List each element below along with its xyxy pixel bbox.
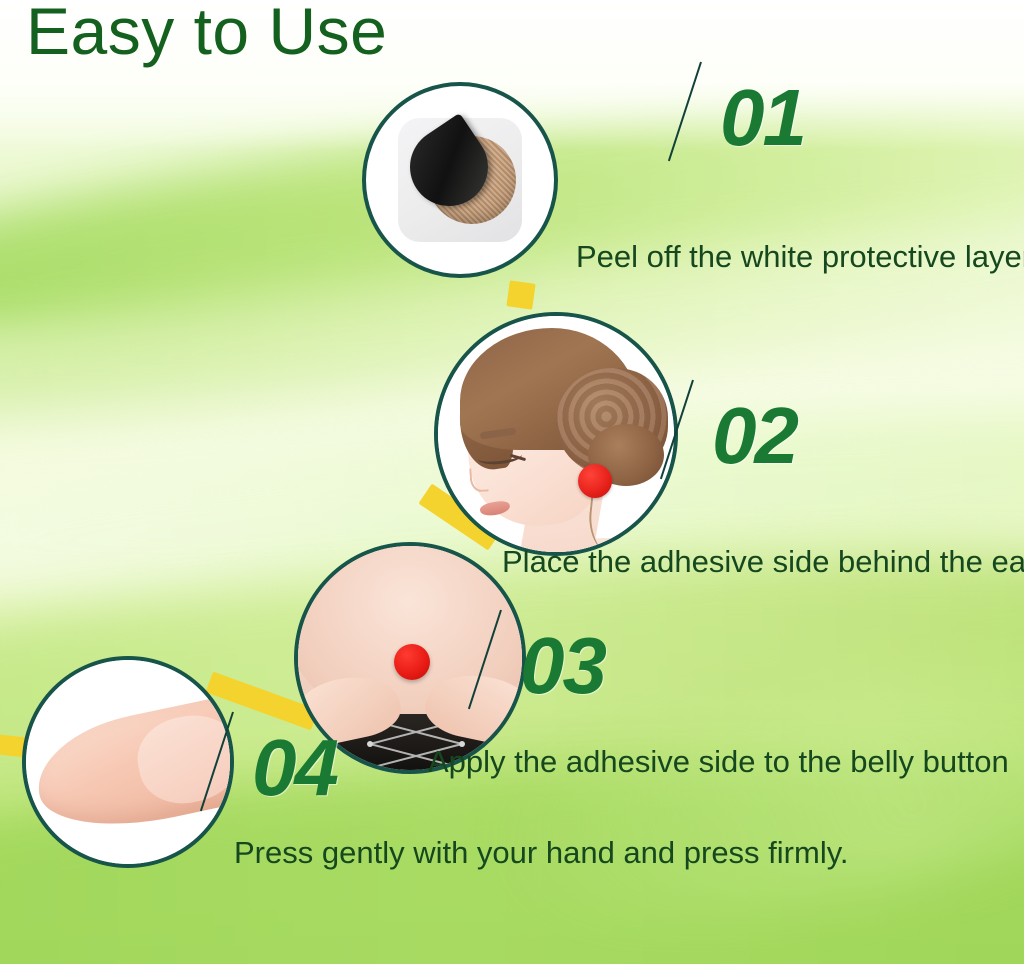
fingertip-illustration xyxy=(26,660,230,864)
step-4-caption: Press gently with your hand and press fi… xyxy=(234,836,849,870)
connector-step1-step2 xyxy=(506,280,535,309)
red-marker-at-navel xyxy=(394,644,430,680)
nose-shape xyxy=(469,467,489,492)
step-2-number: 02 xyxy=(712,396,797,476)
infographic-poster: Easy to Use xyxy=(0,0,1024,964)
woman-illustration xyxy=(438,316,674,552)
step-2-illustration-circle xyxy=(434,312,678,556)
step-3-number: 03 xyxy=(520,626,605,706)
step-1-number: 01 xyxy=(720,78,805,158)
red-marker-behind-ear xyxy=(578,464,612,498)
step-4-illustration-circle xyxy=(22,656,234,868)
step-1-caption: Peel off the white protective layer xyxy=(576,240,1024,274)
page-title: Easy to Use xyxy=(26,0,387,64)
patch-backing-card xyxy=(398,118,522,242)
step-3-caption: Apply the adhesive side to the belly but… xyxy=(428,745,1009,779)
step-1-illustration-circle xyxy=(362,82,558,278)
step-4-number: 04 xyxy=(252,728,337,808)
step-2-caption: Place the adhesive side behind the ear xyxy=(502,545,1024,579)
